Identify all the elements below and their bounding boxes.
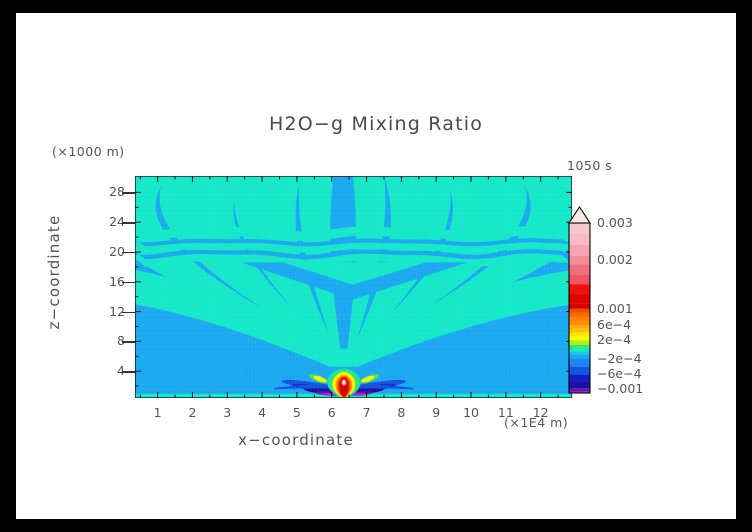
colorbar-band (570, 317, 590, 321)
colorbar-tick-label: −6e−4 (597, 366, 642, 381)
y-tick-label: 8 (85, 333, 125, 348)
colorbar-band (570, 336, 590, 340)
y-tick-mark (122, 371, 135, 372)
x-tick-label: 3 (212, 405, 242, 420)
x-tick-label: 10 (456, 405, 486, 420)
colorbar-tick-label: −0.001 (597, 381, 643, 396)
colorbar-band (570, 309, 590, 313)
x-tick-label: 2 (177, 405, 207, 420)
timestamp-annotation: 1050 s (567, 158, 612, 173)
screenshot-root: H2O−g Mixing Ratio (×1000 m) (×1E4 m) x−… (0, 0, 752, 532)
colorbar-band (570, 352, 590, 354)
colorbar-tick-label: 0.001 (597, 301, 633, 316)
y-tick-mark (122, 341, 135, 342)
colorbar-band (570, 347, 590, 349)
y-tick-mark (122, 312, 135, 313)
y-tick-mark (122, 222, 135, 223)
y-tick-label: 28 (85, 184, 125, 199)
y-tick-label: 12 (85, 304, 125, 319)
colorbar-band (570, 329, 590, 333)
x-tick-label: 4 (247, 405, 277, 420)
colorbar-tick-label: 6e−4 (597, 317, 631, 332)
x-tick-label: 11 (491, 405, 521, 420)
colorbar-band (570, 223, 590, 234)
core-peak-white (343, 381, 345, 384)
colorbar-band (570, 234, 590, 245)
colorbar-band (570, 256, 590, 265)
figure-canvas: H2O−g Mixing Ratio (×1000 m) (×1E4 m) x−… (16, 13, 736, 519)
y-axis-label: z−coordinate (45, 182, 63, 362)
colorbar-band (570, 340, 590, 345)
colorbar-band (570, 284, 590, 294)
y-axis-unit-label: (×1000 m) (52, 144, 125, 159)
y-tick-mark (122, 252, 135, 253)
colorbar-tick-label: 2e−4 (597, 332, 631, 347)
colorbar-band (570, 321, 590, 325)
colorbar: 0.0030.0020.0016e−42e−4−2e−4−6e−4−0.001 (567, 201, 677, 401)
colorbar-band (570, 389, 590, 392)
colorbar-band (570, 313, 590, 317)
colorbar-band (570, 294, 590, 304)
contour-plot (135, 176, 572, 398)
colorbar-band (570, 367, 590, 375)
colorbar-band (570, 382, 590, 389)
colorbar-band (570, 325, 590, 329)
colorbar-band (570, 333, 590, 337)
colorbar-tick-label: −2e−4 (597, 351, 642, 366)
colorbar-band (570, 304, 590, 309)
colorbar-band (570, 350, 590, 352)
x-tick-label: 8 (386, 405, 416, 420)
colorbar-tick-label: 0.002 (597, 252, 633, 267)
colorbar-band (570, 245, 590, 256)
x-tick-label: 9 (421, 405, 451, 420)
colorbar-band (570, 354, 590, 359)
colorbar-band (570, 374, 590, 381)
figure-title: H2O−g Mixing Ratio (16, 113, 736, 135)
x-tick-label: 7 (352, 405, 382, 420)
colorbar-band (570, 359, 590, 367)
y-tick-mark (122, 192, 135, 193)
x-tick-label: 1 (143, 405, 173, 420)
plot-area-wrapper: 481216202428 123456789101112 (119, 163, 556, 385)
colorbar-tick-label: 0.003 (597, 215, 633, 230)
x-tick-label: 6 (317, 405, 347, 420)
colorbar-band (570, 264, 590, 274)
x-tick-label: 12 (526, 405, 556, 420)
y-tick-label: 24 (85, 214, 125, 229)
x-tick-label: 5 (282, 405, 312, 420)
y-tick-label: 20 (85, 244, 125, 259)
colorbar-band (570, 274, 590, 284)
y-tick-mark (122, 282, 135, 283)
y-tick-label: 4 (85, 363, 125, 378)
y-tick-label: 16 (85, 274, 125, 289)
x-axis-label: x−coordinate (16, 431, 576, 449)
colorbar-band (570, 345, 590, 347)
